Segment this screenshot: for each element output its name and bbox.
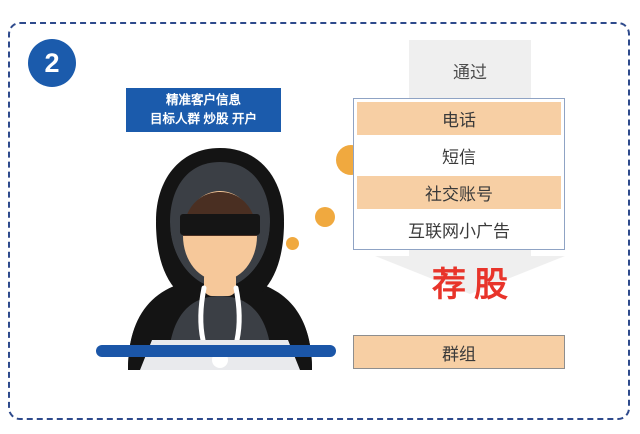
channel-row: 社交账号 [357,176,561,209]
result-headline: 荐股 [375,268,565,302]
via-label: 通过 [409,58,531,83]
channel-list-box: 电话 短信 社交账号 互联网小广告 [353,98,565,250]
orange-bubble-medium [315,207,335,227]
channel-label: 短信 [442,143,476,168]
infographic-canvas: 2 精准客户信息 目标人群 炒股 开户 通过 [0,0,640,434]
channel-row: 短信 [357,139,561,172]
hacker-illustration [100,140,340,370]
channel-label: 电话 [442,106,476,131]
desk-bar [96,345,336,357]
channel-label: 社交账号 [425,180,493,205]
step-number-badge: 2 [28,39,76,87]
step-number-label: 2 [44,50,59,77]
channel-row: 互联网小广告 [357,213,561,246]
group-label: 群组 [442,340,476,365]
caption-line-1: 精准客户信息 [166,91,241,110]
target-customer-caption-box: 精准客户信息 目标人群 炒股 开户 [126,88,281,132]
caption-line-2: 目标人群 炒股 开户 [150,110,257,129]
channel-row: 电话 [357,102,561,135]
orange-bubble-small [286,237,299,250]
group-box: 群组 [353,335,565,369]
channel-label: 互联网小广告 [408,217,510,242]
